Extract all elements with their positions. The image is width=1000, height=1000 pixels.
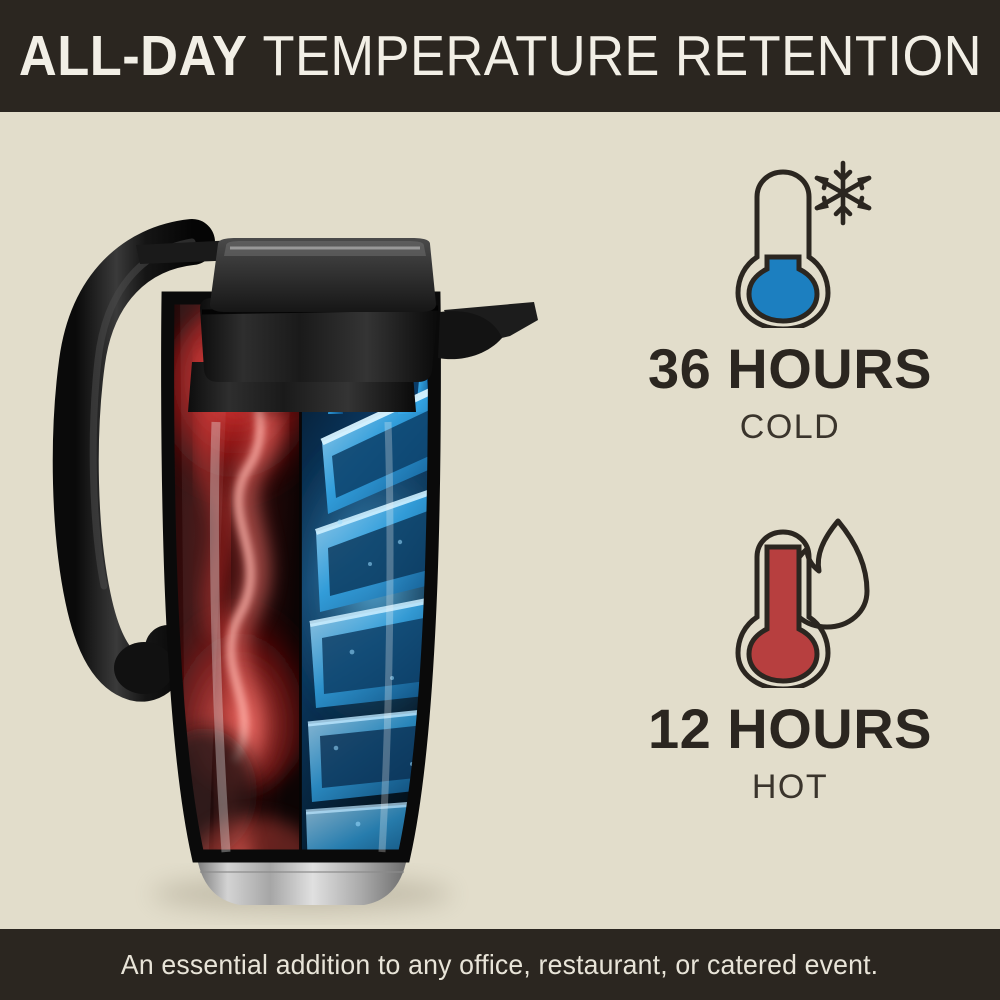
footer-tagline: An essential addition to any office, res… [121, 949, 878, 981]
features-column: 36 HOURS COLD 12 [580, 112, 1000, 929]
hot-duration: 12 HOURS [580, 700, 1000, 759]
snowflake-icon [817, 163, 869, 223]
cold-duration: 36 HOURS [580, 340, 1000, 399]
product-figure [40, 112, 560, 929]
header-banner: ALL-DAY TEMPERATURE RETENTION [0, 0, 1000, 112]
page-title-bold: ALL-DAY [18, 24, 247, 88]
main-content: 36 HOURS COLD 12 [0, 112, 1000, 929]
page-title: ALL-DAY TEMPERATURE RETENTION [18, 28, 981, 85]
page-title-regular [247, 24, 262, 88]
thermometer-cold-icon [580, 150, 1000, 330]
feature-hot: 12 HOURS HOT [580, 510, 1000, 808]
thermometer-hot-icon [580, 510, 1000, 690]
cold-label: COLD [580, 407, 1000, 448]
page-title-rest: TEMPERATURE RETENTION [262, 24, 982, 88]
infographic-page: ALL-DAY TEMPERATURE RETENTION [0, 0, 1000, 1000]
thermal-carafe-image [40, 112, 560, 929]
footer-banner: An essential addition to any office, res… [0, 929, 1000, 1000]
feature-cold: 36 HOURS COLD [580, 150, 1000, 448]
thermometer-fill-cold [749, 257, 817, 321]
hot-label: HOT [580, 767, 1000, 808]
